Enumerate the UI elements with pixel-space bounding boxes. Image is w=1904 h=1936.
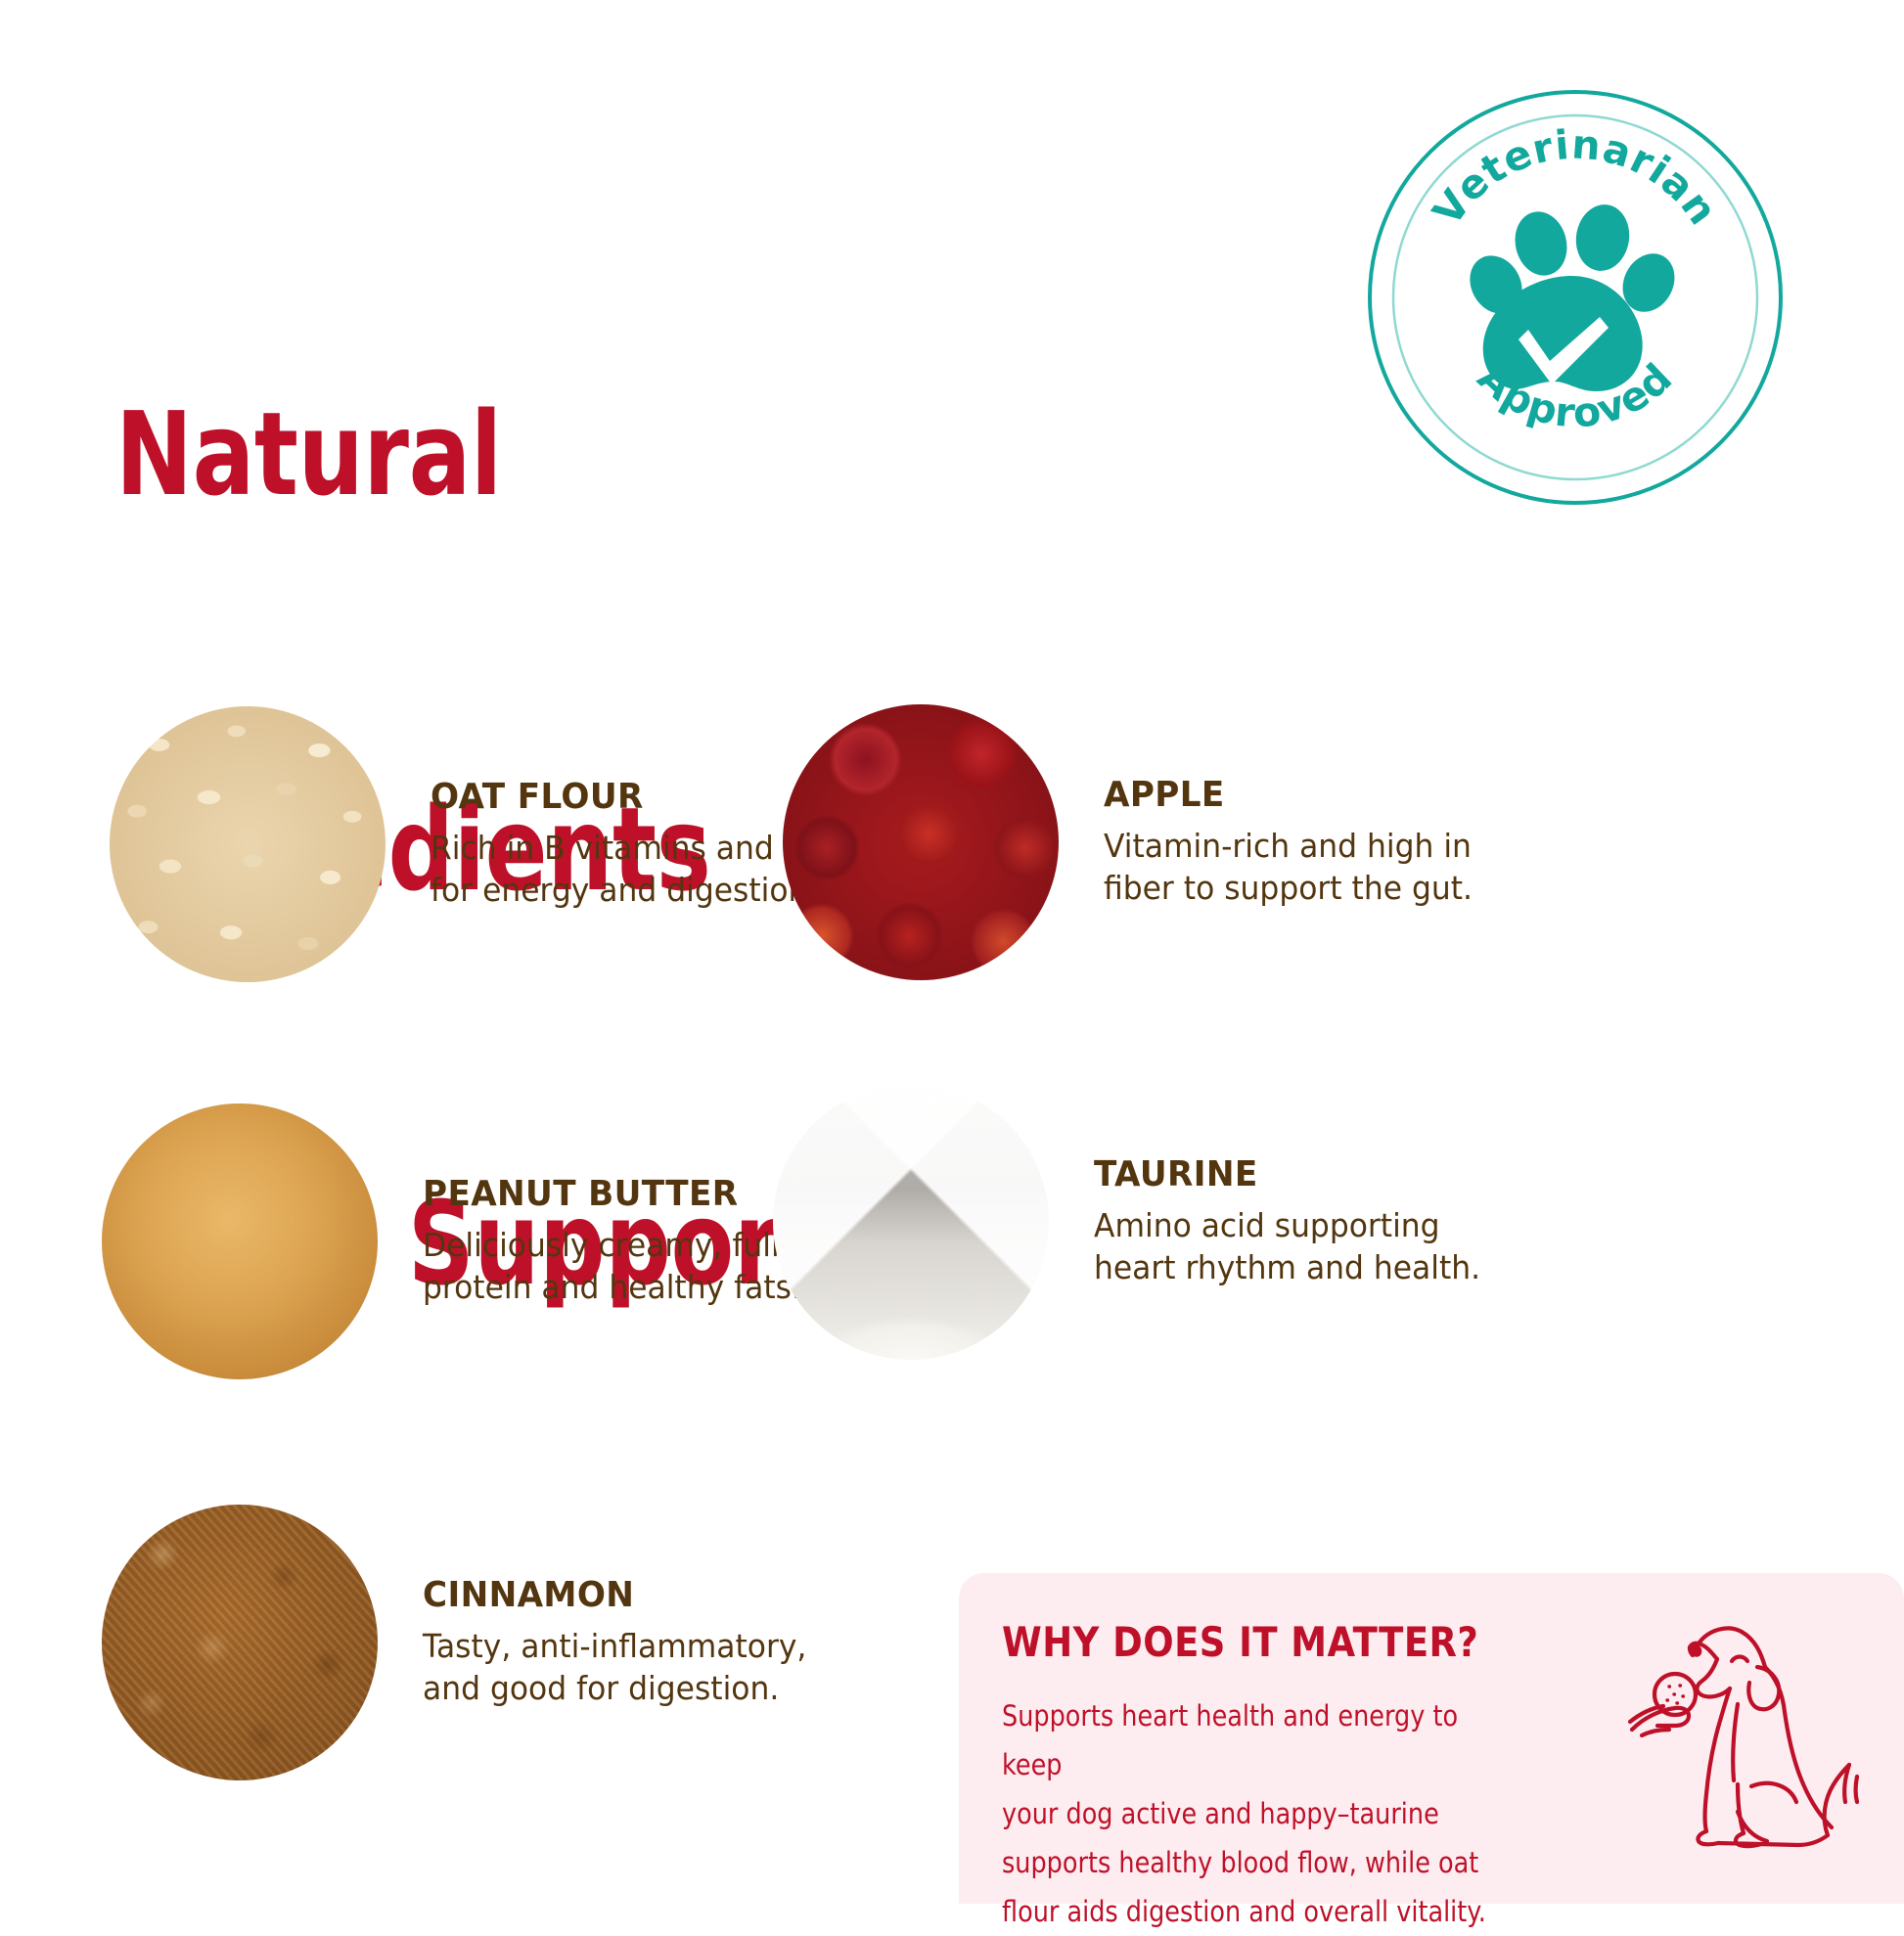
apple-text: APPLE Vitamin-rich and high in fiber to … <box>1104 775 1492 910</box>
ingredient-item-peanut-butter: PEANUT BUTTER Deliciously creamy, full o… <box>102 1103 839 1379</box>
ingredient-name: TAURINE <box>1094 1154 1480 1195</box>
why-does-it-matter-panel: WHY DOES IT MATTER? Supports heart healt… <box>959 1573 1904 1904</box>
ingredient-item-cinnamon: CINNAMON Tasty, anti-inflammatory, and g… <box>102 1505 827 1780</box>
ingredient-item-taurine: TAURINE Amino acid supporting heart rhyt… <box>773 1084 1501 1360</box>
cinnamon-text: CINNAMON Tasty, anti-inflammatory, and g… <box>423 1575 827 1710</box>
veterinarian-approved-badge: Veterinarian Approved <box>1362 84 1789 511</box>
page-title-line-1: Natural <box>115 388 823 520</box>
ingredient-item-oat-flour: OAT FLOUR Rich in B vitamins and fiber f… <box>110 706 876 982</box>
taurine-text: TAURINE Amino acid supporting heart rhyt… <box>1094 1154 1501 1289</box>
apple-photo <box>783 704 1059 980</box>
taurine-photo <box>773 1084 1049 1360</box>
badge-top-label: Veterinarian <box>1424 120 1727 234</box>
ingredient-name: PEANUT BUTTER <box>423 1174 819 1215</box>
cinnamon-photo <box>102 1505 378 1780</box>
ingredient-description: Vitamin-rich and high in fiber to suppor… <box>1104 825 1473 910</box>
peanut-butter-photo <box>102 1103 378 1379</box>
ingredient-description: Deliciously creamy, full of protein and … <box>423 1224 819 1309</box>
ingredient-item-apple: APPLE Vitamin-rich and high in fiber to … <box>783 704 1492 980</box>
oat-flour-photo <box>110 706 385 982</box>
dog-with-treat-illustration <box>1589 1585 1900 1904</box>
why-panel-title: WHY DOES IT MATTER? <box>1002 1618 1478 1666</box>
why-panel-body: Supports heart health and energy to keep… <box>1002 1692 1519 1936</box>
ingredient-description: Tasty, anti-inflammatory, and good for d… <box>423 1625 806 1710</box>
ingredient-name: APPLE <box>1104 775 1473 816</box>
ingredient-name: CINNAMON <box>423 1575 806 1616</box>
ingredient-description: Amino acid supporting heart rhythm and h… <box>1094 1204 1480 1289</box>
